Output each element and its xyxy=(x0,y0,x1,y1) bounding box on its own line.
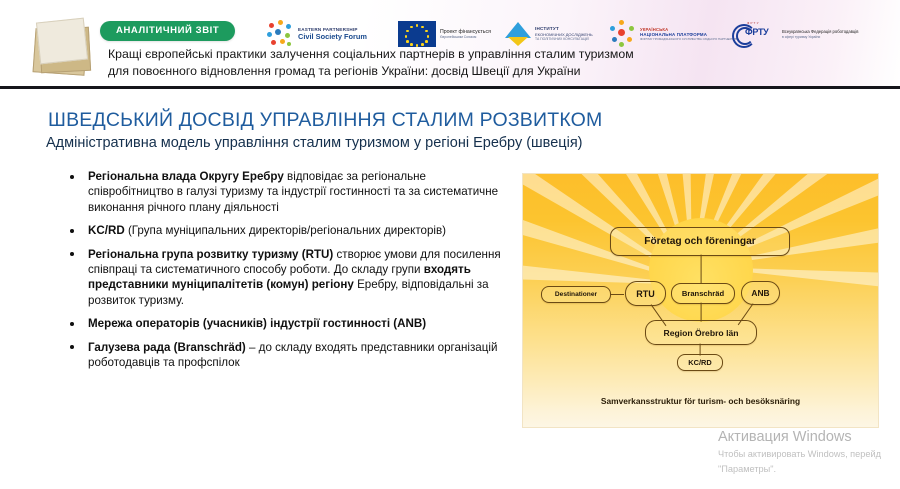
diagram-node-foretag: Företag och föreningar xyxy=(610,227,790,256)
triangle-institute-icon xyxy=(505,22,531,46)
confetti-people-icon xyxy=(266,20,294,48)
analytical-report-badge: АНАЛІТИЧНИЙ ЗВІТ xyxy=(100,21,235,41)
connector-dest-rtu xyxy=(611,294,624,295)
bullet-lead: KC/RD xyxy=(88,224,125,237)
diagram-node-region-orebro-lan: Region Örebro län xyxy=(645,320,757,345)
frtu-emblem-icon: ФРТУ ФРТУ xyxy=(732,22,778,46)
watermark-title: Активация Windows xyxy=(718,428,900,446)
diagram-node-destinationer: Destinationer xyxy=(541,286,611,303)
page-title: ШВЕДСЬКИЙ ДОСВІД УПРАВЛІННЯ СТАЛИМ РОЗВИ… xyxy=(48,109,602,132)
collaboration-structure-diagram: Företag och föreningar Destinationer RTU… xyxy=(523,174,878,427)
banner-line-2: для повоєнного відновлення громад та рег… xyxy=(108,63,728,80)
diagram-node-branschrad: Branschräd xyxy=(671,283,735,304)
bullet-dot-icon xyxy=(70,252,74,256)
bullet-dot-icon xyxy=(70,345,74,349)
list-item: Галузева рада (Branschräd) – до складу в… xyxy=(62,340,502,371)
bullet-dot-icon xyxy=(70,229,74,233)
page-subtitle: Адміністративна модель управління сталим… xyxy=(46,135,583,151)
banner-line-1: Кращі європейські практики залучення соц… xyxy=(108,46,728,63)
connector-region-kcrd xyxy=(699,344,700,356)
watermark-line-1: Чтобы активировать Windows, перейд xyxy=(718,448,900,461)
banner-title-text: Кращі європейські практики залучення соц… xyxy=(108,46,728,79)
eu-flag-icon xyxy=(398,21,436,47)
list-item: Регіональна влада Округу Еребру відповід… xyxy=(62,169,502,215)
logo-institute-label: ІНСТИТУТ ЕКОНОМІЧНИХ ДОСЛІДЖЕНЬ ТА ПОЛІТ… xyxy=(535,26,593,41)
bullet-list: Регіональна влада Округу Еребру відповід… xyxy=(62,169,502,378)
bullet-lead: Регіональна влада Округу Еребру xyxy=(88,170,284,183)
diagram-node-kcrd: KC/RD xyxy=(677,354,723,371)
diagram-node-rtu: RTU xyxy=(625,281,666,306)
list-item: Регіональна група розвитку туризму (RTU)… xyxy=(62,247,502,309)
report-header-banner: АНАЛІТИЧНИЙ ЗВІТ EASTERN PARTNERSHIP Civ… xyxy=(0,0,900,88)
diagram-caption: Samverkansstruktur för turism- och besök… xyxy=(523,396,878,406)
confetti-star-icon xyxy=(608,20,636,48)
documents-folder-icon xyxy=(32,16,94,78)
bullet-text: (Група муніципальних директорів/регіонал… xyxy=(125,224,446,237)
list-item: Мережа операторів (учасників) індустрії … xyxy=(62,316,502,331)
connector-foretag-branschrad xyxy=(700,255,701,284)
logo-frtu-label: Всеукраїнська Федерація роботодавців в с… xyxy=(782,29,858,39)
logo-unp-label: УКРАЇНСЬКА НАЦІОНАЛЬНА ПЛАТФОРМА ФОРУМУ … xyxy=(640,27,739,41)
logo-eu-label: Проект фінансується Європейським Союзом xyxy=(440,29,491,40)
diagram-nodes: Företag och föreningar Destinationer RTU… xyxy=(523,174,878,427)
bullet-dot-icon xyxy=(70,322,74,326)
bullet-lead: Мережа операторів (учасників) індустрії … xyxy=(88,317,426,330)
watermark-line-2: "Параметры". xyxy=(718,463,900,476)
bullet-dot-icon xyxy=(70,175,74,179)
bullet-lead: Регіональна група розвитку туризму (RTU) xyxy=(88,248,333,261)
connector-branschrad-region xyxy=(700,303,701,322)
logo-frtu: ФРТУ ФРТУ Всеукраїнська Федерація робото… xyxy=(732,16,858,52)
list-item: KC/RD (Група муніципальних директорів/ре… xyxy=(62,223,502,238)
windows-activation-watermark: Активация Windows Чтобы активировать Win… xyxy=(718,428,900,475)
logo-civil-society-forum-label: EASTERN PARTNERSHIP Civil Society Forum xyxy=(298,27,367,42)
bullet-lead: Галузева рада (Branschräd) xyxy=(88,341,246,354)
diagram-node-anb: ANB xyxy=(741,281,780,305)
